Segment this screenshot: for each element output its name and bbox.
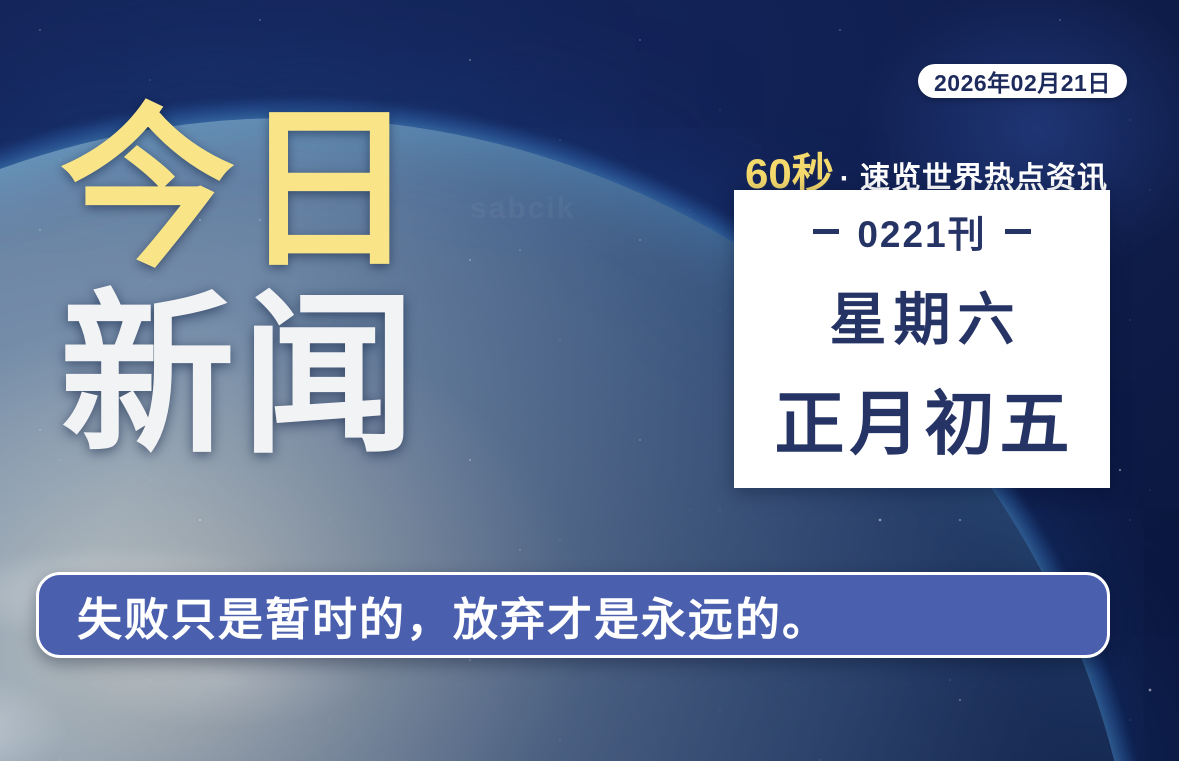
lunar-date-label: 正月初五	[770, 368, 1075, 469]
news-poster: sabcik 今日 新闻 2026年02月21日 60秒 · 速览世界热点资讯 …	[0, 0, 1179, 761]
watermark-text: sabcik	[470, 192, 575, 226]
dash-right-icon	[1005, 229, 1031, 234]
title-line-news: 新闻	[60, 284, 422, 470]
issue-number: 0221刊	[857, 204, 986, 258]
title-line-today: 今日	[60, 98, 422, 284]
quote-text: 失败只是暂时的，放弃才是永远的。	[77, 583, 829, 648]
quote-banner: 失败只是暂时的，放弃才是永远的。	[36, 572, 1110, 658]
dash-left-icon	[813, 229, 839, 234]
date-badge: 2026年02月21日	[918, 64, 1127, 98]
weekday-label: 星期六	[823, 274, 1022, 356]
issue-row: 0221刊	[813, 204, 1030, 258]
poster-title: 今日 新闻	[60, 98, 422, 470]
info-card: 0221刊 星期六 正月初五	[734, 190, 1110, 488]
date-badge-label: 2026年02月21日	[934, 64, 1111, 98]
